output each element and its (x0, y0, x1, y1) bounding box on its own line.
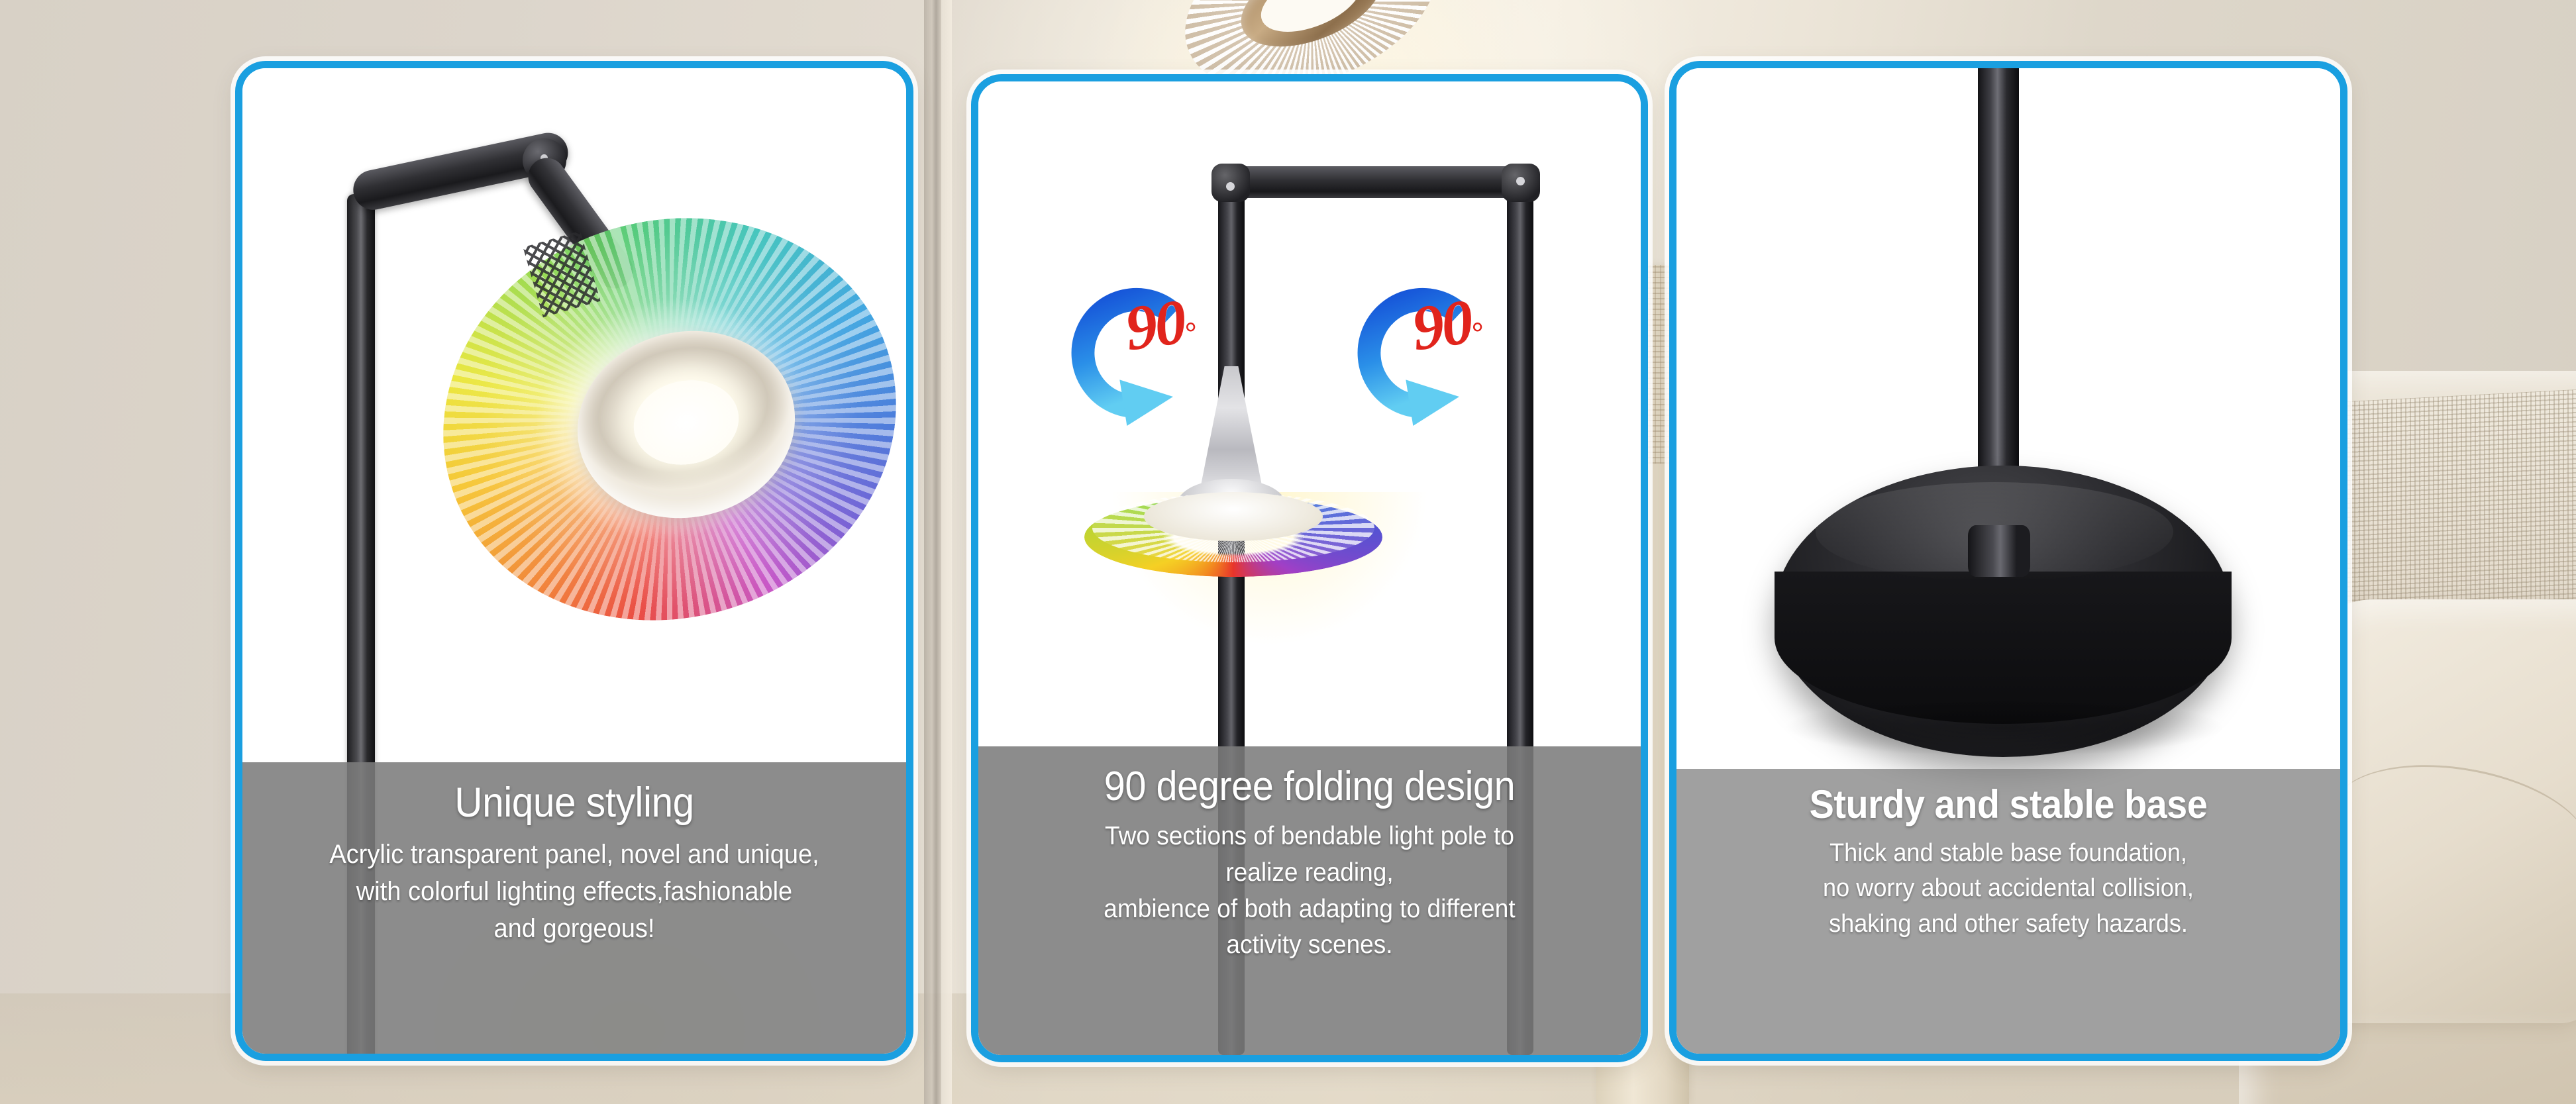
rotation-right-value: 90 (1408, 284, 1476, 365)
card2-body-line-4: activity scenes. (1014, 927, 1606, 964)
lamp-base-shadow (1782, 697, 2226, 757)
card2-caption: 90 degree folding design Two sections of… (978, 746, 1641, 1055)
card2-body-line-2: realize reading, (1014, 855, 1606, 891)
card3-caption: Sturdy and stable base Thick and stable … (1676, 769, 2340, 1054)
lamp-base-collar (1968, 525, 2030, 577)
card1-body-line-1: Acrylic transparent panel, novel and uni… (278, 836, 871, 873)
card1-title: Unique styling (284, 779, 864, 827)
joint-screw-right (1516, 177, 1525, 185)
disc-inner-lip (1144, 492, 1323, 541)
card1-body: Acrylic transparent panel, novel and uni… (278, 836, 871, 947)
joint-screw-left (1226, 182, 1235, 191)
card1-caption: Unique styling Acrylic transparent panel… (242, 762, 906, 1054)
card3-body: Thick and stable base foundation, no wor… (1712, 836, 2305, 942)
card2-title: 90 degree folding design (1020, 764, 1599, 809)
rotation-label-right: 90° (1412, 288, 1482, 362)
lamp-pole-horizontal (1218, 166, 1536, 198)
rotation-label-left: 90° (1125, 288, 1196, 362)
card3-body-line-3: shaking and other safety hazards. (1712, 907, 2305, 942)
card2-body-line-1: Two sections of bendable light pole to (1014, 819, 1606, 855)
card2-body-line-3: ambience of both adapting to different (1014, 891, 1606, 928)
feature-banner: Unique styling Acrylic transparent panel… (0, 0, 2576, 1104)
wall-edge (924, 0, 941, 1104)
card3-title: Sturdy and stable base (1718, 782, 2298, 827)
wall-edge-highlight (941, 0, 952, 1104)
card2-body: Two sections of bendable light pole to r… (1014, 819, 1606, 963)
card3-body-line-2: no worry about accidental collision, (1712, 871, 2305, 906)
feature-card-folding-design[interactable]: 90° 90° 90 deg (971, 74, 1648, 1062)
feature-card-unique-styling[interactable]: Unique styling Acrylic transparent panel… (235, 61, 913, 1061)
card1-body-line-2: with colorful lighting effects,fashionab… (278, 873, 871, 910)
card3-body-line-1: Thick and stable base foundation, (1712, 836, 2305, 871)
card1-body-line-3: and gorgeous! (278, 910, 871, 947)
rotation-left-value: 90 (1121, 284, 1189, 365)
feature-card-stable-base[interactable]: Sturdy and stable base Thick and stable … (1669, 61, 2347, 1061)
